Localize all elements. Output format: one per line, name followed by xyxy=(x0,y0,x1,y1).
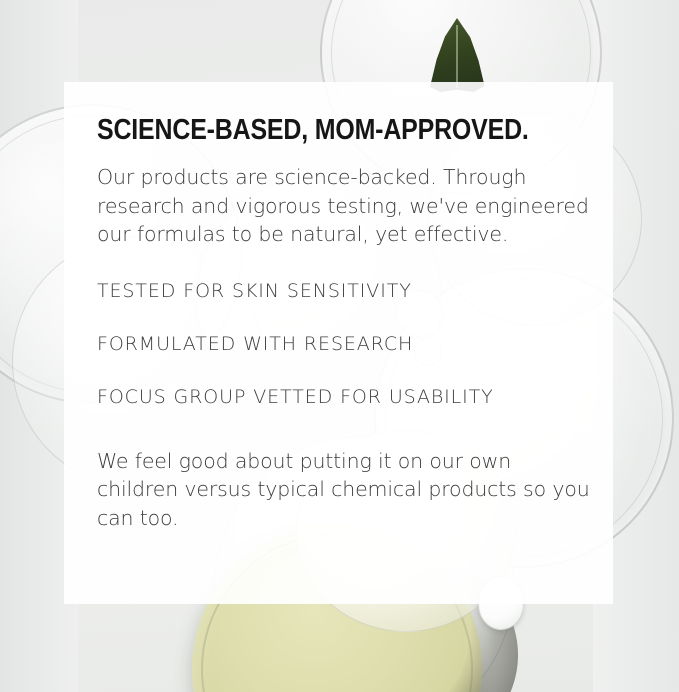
copy-block: SCIENCE-BASED, MOM-APPROVED. Our product… xyxy=(97,116,591,532)
text-overlay-card: SCIENCE-BASED, MOM-APPROVED. Our product… xyxy=(64,82,613,604)
feature-item-formulated-with-research: FORMULATED WITH RESEARCH xyxy=(97,332,591,356)
feature-item-tested-for-skin-sensitivity: TESTED FOR SKIN SENSITIVITY xyxy=(97,279,591,303)
intro-paragraph: Our products are science-backed. Through… xyxy=(97,163,591,249)
closing-paragraph: We feel good about putting it on our own… xyxy=(97,447,591,533)
feature-item-focus-group-vetted-for-usability: FOCUS GROUP VETTED FOR USABILITY xyxy=(97,385,591,409)
page-title: SCIENCE-BASED, MOM-APPROVED. xyxy=(97,116,522,145)
promo-graphic: SCIENCE-BASED, MOM-APPROVED. Our product… xyxy=(0,0,679,692)
